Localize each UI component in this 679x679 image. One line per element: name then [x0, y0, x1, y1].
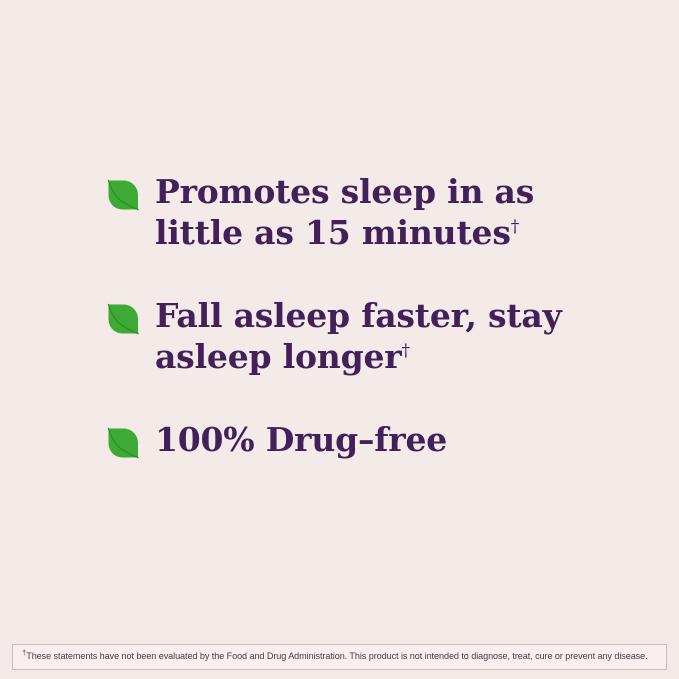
benefit-headline: 100% Drug–free: [155, 420, 447, 461]
list-item: Promotes sleep in as little as 15 minute…: [107, 172, 627, 254]
benefit-headline: Promotes sleep in as little as 15 minute…: [155, 172, 585, 254]
disclaimer-box: †These statements have not been evaluate…: [12, 644, 667, 670]
disclaimer-region: †These statements have not been evaluate…: [0, 644, 679, 670]
leaf-icon: [107, 427, 139, 459]
footnote-marker: †: [401, 341, 409, 361]
leaf-icon: [107, 179, 139, 211]
benefit-label: 100% Drug–free: [155, 420, 447, 459]
benefit-label: Promotes sleep in as little as 15 minute…: [155, 172, 534, 252]
list-item: Fall asleep faster, stay asleep longer†: [107, 296, 627, 378]
product-benefits-panel: Promotes sleep in as little as 15 minute…: [0, 0, 679, 679]
disclaimer-body: These statements have not been evaluated…: [26, 651, 647, 661]
benefit-headline: Fall asleep faster, stay asleep longer†: [155, 296, 585, 378]
footnote-marker: †: [511, 217, 519, 237]
list-item: 100% Drug–free: [107, 420, 627, 461]
benefits-list: Promotes sleep in as little as 15 minute…: [107, 172, 627, 461]
leaf-icon: [107, 303, 139, 335]
benefit-label: Fall asleep faster, stay asleep longer: [155, 296, 562, 376]
disclaimer-text: †These statements have not been evaluate…: [22, 651, 657, 662]
